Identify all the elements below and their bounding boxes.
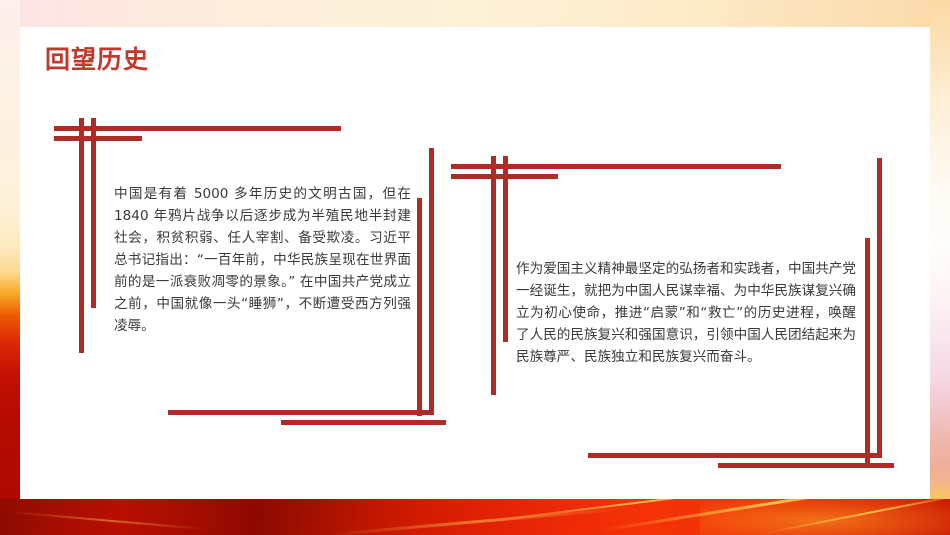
- background-top-gradient: [0, 0, 950, 27]
- page-title: 回望历史: [45, 48, 149, 73]
- right-frame-vline-inner: [503, 156, 508, 342]
- right-frame-vline-outer: [491, 156, 496, 395]
- left-frame-vline-outer: [79, 118, 84, 353]
- background-left-gradient: [0, 0, 20, 535]
- left-frame-right-vline-inner: [417, 198, 422, 416]
- history-panel-left-text: 中国是有着 5000 多年历史的文明古国，但在 1840 年鸦片战争以后逐步成为…: [114, 183, 411, 337]
- left-frame-bottom-rule: [168, 410, 434, 415]
- right-frame-right-vline-outer: [877, 158, 882, 458]
- left-frame-vline-inner: [91, 118, 96, 308]
- left-frame-top-rule: [54, 126, 341, 131]
- right-frame-bottom-rule: [588, 453, 882, 458]
- slide-canvas: 回望历史 中国是有着 5000 多年历史的文明古国，但在 1840 年鸦片战争以…: [0, 0, 950, 535]
- background-right-gradient: [930, 0, 950, 535]
- background-bottom-band: [0, 499, 950, 535]
- history-panel-right-text: 作为爱国主义精神最坚定的弘扬者和实践者，中国共产党一经诞生，就把为中国人民谋幸福…: [516, 258, 856, 368]
- left-frame-bottom-rule-short: [281, 420, 446, 425]
- right-frame-right-vline-inner: [865, 238, 870, 463]
- left-frame-top-rule-short: [54, 136, 142, 141]
- right-frame-top-rule: [451, 164, 781, 169]
- bottom-band-swoosh-1: [10, 511, 209, 530]
- right-frame-bottom-rule-short: [718, 463, 894, 468]
- left-frame-right-vline-outer: [429, 148, 434, 410]
